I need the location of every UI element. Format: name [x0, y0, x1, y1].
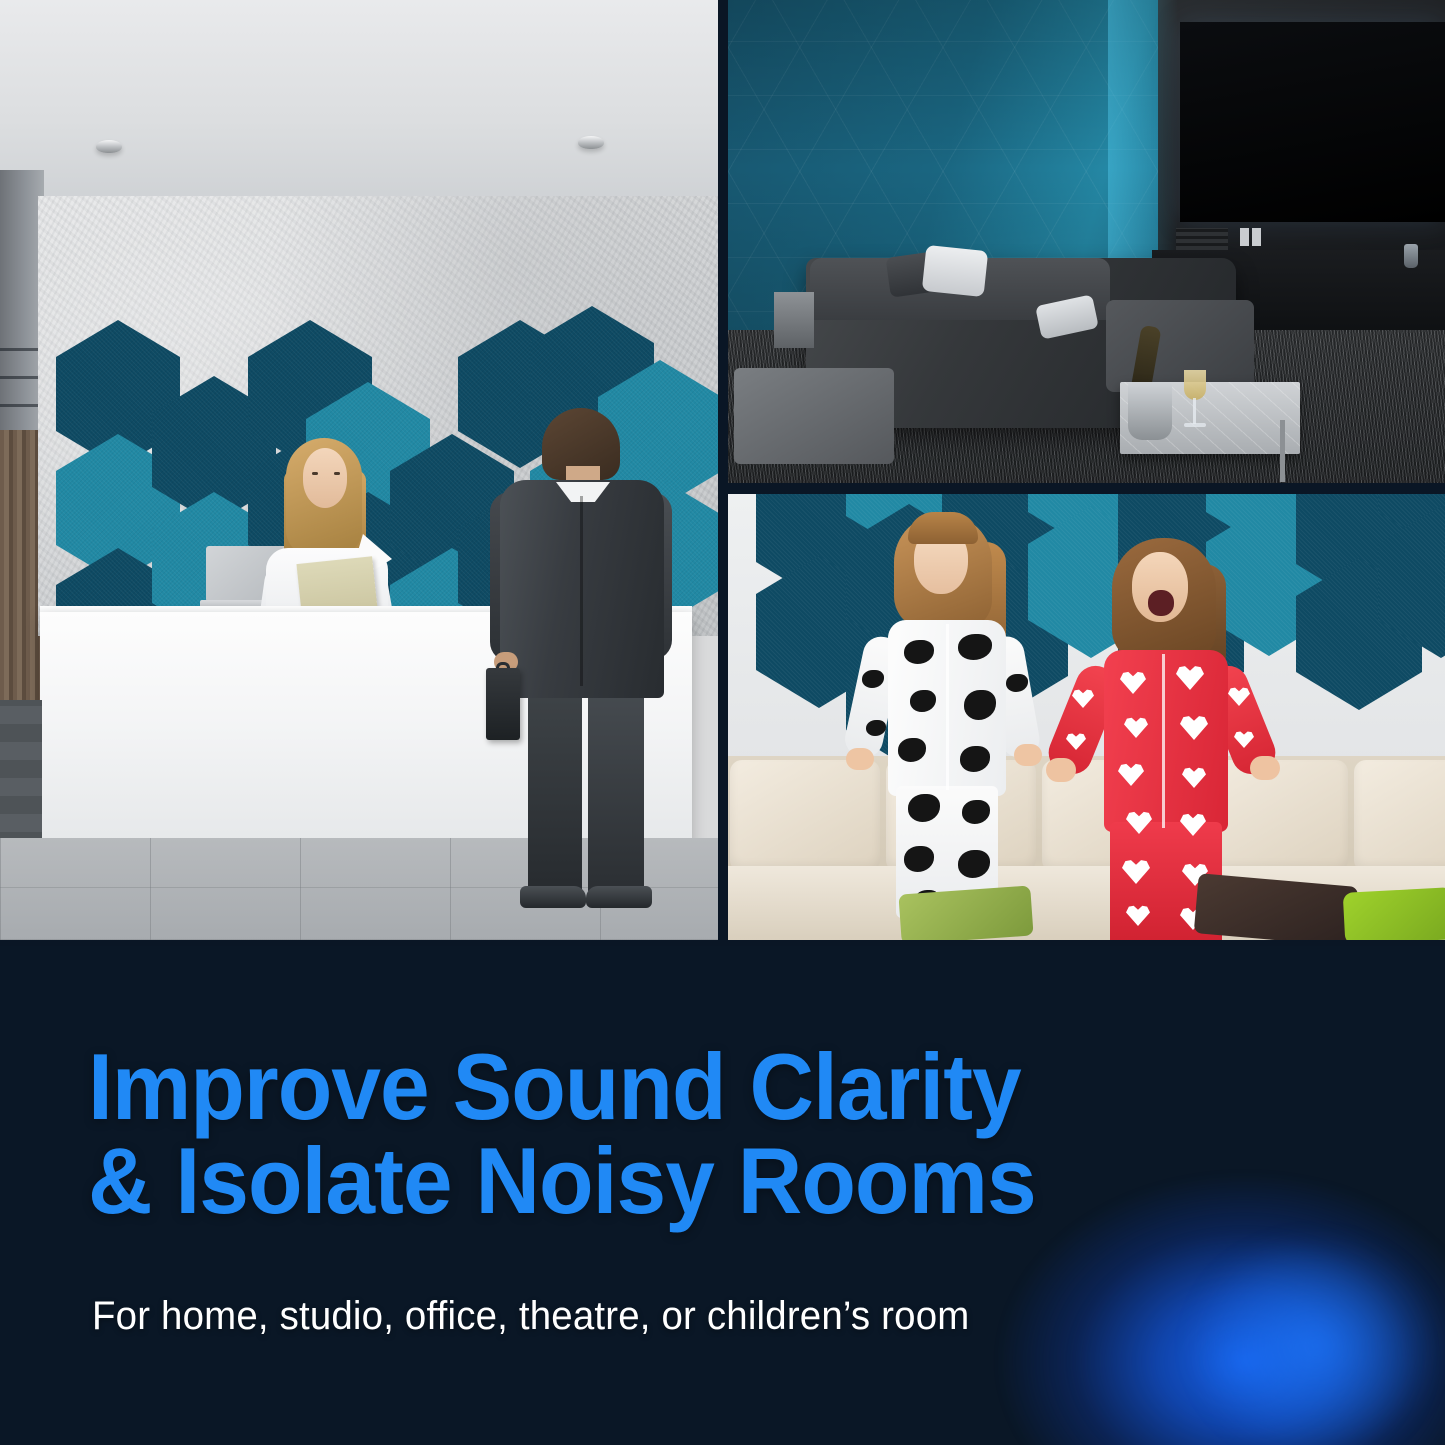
- television: [1180, 22, 1445, 222]
- ottoman: [734, 368, 894, 464]
- page-title: Improve Sound Clarity & Isolate Noisy Ro…: [88, 1040, 1036, 1228]
- briefcase: [486, 668, 520, 740]
- ceiling-spotlight-icon: [96, 140, 122, 153]
- children-room-photo: [728, 494, 1445, 940]
- home-theatre-photo: [728, 0, 1445, 483]
- ice-bucket: [1128, 382, 1172, 440]
- wine-glass: [1184, 370, 1206, 400]
- product-marketing-image: Improve Sound Clarity & Isolate Noisy Ro…: [0, 0, 1445, 1445]
- ceiling-spotlight-icon: [578, 136, 604, 149]
- green-pillow: [898, 885, 1033, 940]
- side-table: [774, 292, 814, 348]
- marketing-banner: Improve Sound Clarity & Isolate Noisy Ro…: [0, 946, 1445, 1445]
- sofa-chaise: [1106, 300, 1254, 392]
- green-pillow: [1343, 887, 1445, 940]
- speaker-icon: [1240, 228, 1249, 246]
- photo-collage: [0, 0, 1445, 946]
- decor-vase: [1404, 244, 1418, 268]
- ceiling: [0, 0, 718, 200]
- cushion: [922, 245, 988, 297]
- banner-subtitle: For home, studio, office, theatre, or ch…: [92, 1294, 969, 1338]
- speaker-icon: [1252, 228, 1261, 246]
- office-reception-photo: [0, 0, 718, 940]
- stacked-books: [1176, 228, 1228, 250]
